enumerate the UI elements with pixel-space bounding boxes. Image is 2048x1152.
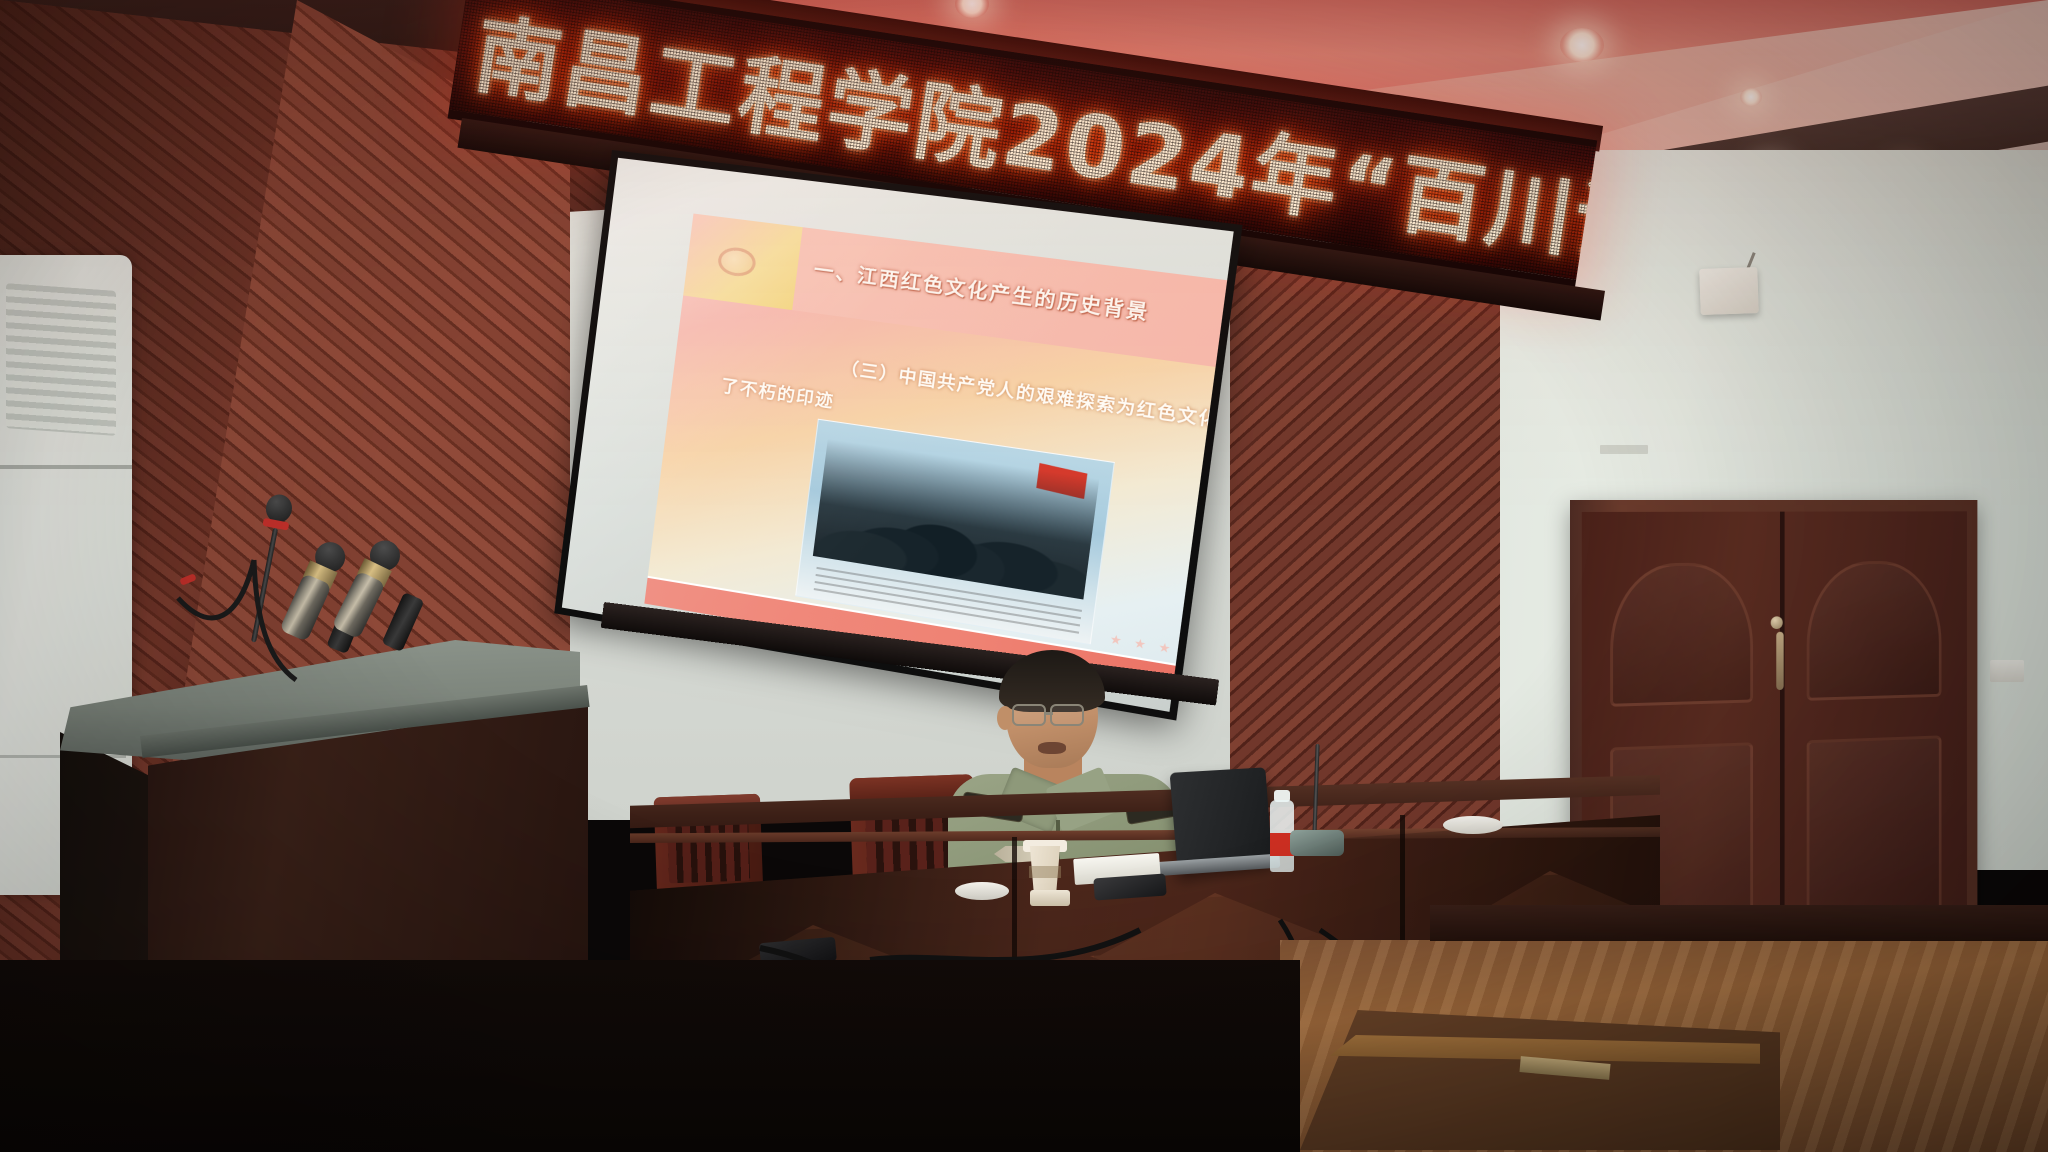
speaker-hair	[999, 650, 1105, 712]
glasses-icon	[1050, 704, 1084, 726]
desk-microphone-base[interactable]	[1290, 830, 1344, 856]
glasses-icon	[1012, 704, 1046, 726]
baseboard	[1430, 905, 2048, 941]
wall-mark	[1600, 445, 1648, 454]
wireless-access-point	[1699, 267, 1759, 315]
saucer	[1443, 816, 1503, 834]
door-handle[interactable]	[1776, 632, 1783, 690]
air-conditioner-grille	[6, 283, 116, 436]
speaker-ear	[997, 706, 1013, 730]
light-switch[interactable]	[1990, 660, 2024, 682]
door-panel	[1807, 560, 1942, 701]
stage-step	[1300, 1010, 1780, 1150]
slide-logo-icon	[717, 245, 758, 278]
slide-logo-box	[683, 213, 802, 310]
slide-subsection: （三）中国共产党人的艰难探索为红色文化提供	[840, 353, 1234, 438]
speaker-mouth	[1038, 742, 1066, 754]
air-conditioner-seam	[0, 465, 132, 469]
ceiling-downlight	[1560, 28, 1604, 62]
cable	[178, 560, 254, 618]
glasses-bridge	[1045, 712, 1053, 715]
slide-subsection-continued: 了不朽的印迹	[720, 371, 836, 412]
door-panel	[1610, 562, 1753, 707]
cable	[870, 930, 1140, 960]
lecture-hall-photo: 南昌工程学院2024年“百川讲坛”第十九讲 一、江西红色文化产生的历史背景 （三…	[0, 0, 2048, 1152]
ceiling-downlight	[1740, 88, 1762, 106]
foreground-floor-shadow	[0, 960, 1300, 1152]
